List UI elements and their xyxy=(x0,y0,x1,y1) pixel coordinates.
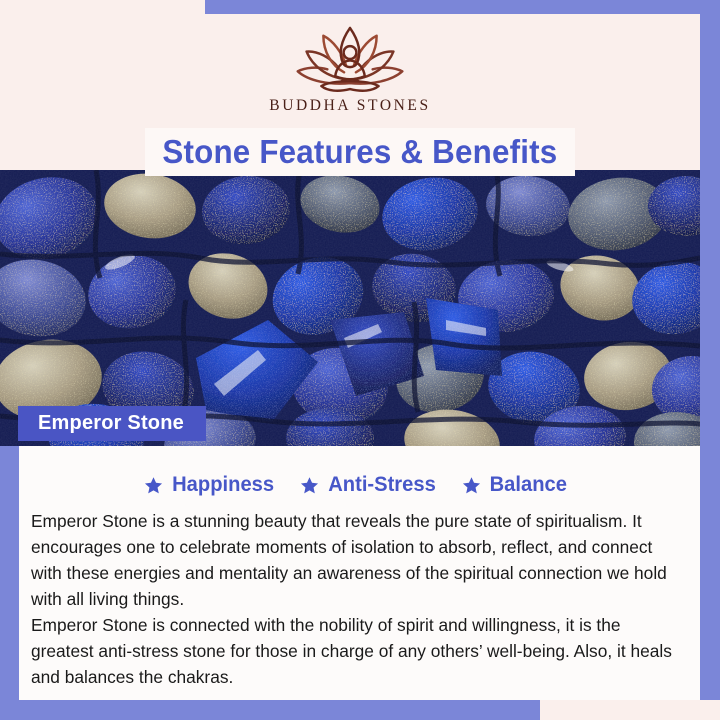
frame-bottom-cream-gap xyxy=(540,700,720,720)
lapis-lazuli-tumbled-stones-photo xyxy=(0,170,700,446)
star-icon xyxy=(300,476,319,495)
benefit-item-anti-stress: Anti-Stress xyxy=(300,473,438,497)
stone-name-label: Emperor Stone xyxy=(38,412,184,435)
description-paragraph-1: Emperor Stone is a stunning beauty that … xyxy=(31,508,674,612)
stone-photo xyxy=(0,170,700,446)
frame-border-left xyxy=(0,438,19,720)
description-panel: Happiness Anti-Stress Balance Emperor S xyxy=(19,446,700,700)
benefit-item-happiness: Happiness xyxy=(144,473,276,497)
brand-logo: BUDDHA STONES xyxy=(269,20,430,115)
stone-benefits-poster: BUDDHA STONES Stone Features & Benefits xyxy=(0,0,720,720)
status-badge: Emperor Stone xyxy=(18,406,206,441)
benefits-list: Happiness Anti-Stress Balance xyxy=(23,466,690,504)
frame-border-bottom xyxy=(0,700,560,720)
frame-border-right xyxy=(700,0,720,704)
benefit-label: Balance xyxy=(490,473,567,497)
title-banner: Stone Features & Benefits xyxy=(145,128,575,176)
description-text: Emperor Stone is a stunning beauty that … xyxy=(23,508,690,690)
benefit-label: Happiness xyxy=(172,473,274,497)
star-icon xyxy=(144,476,163,495)
benefit-label: Anti-Stress xyxy=(329,473,437,497)
frame-border-top xyxy=(205,0,720,14)
benefit-item-balance: Balance xyxy=(462,473,569,497)
brand-name: BUDDHA STONES xyxy=(269,97,430,115)
description-paragraph-2: Emperor Stone is connected with the nobi… xyxy=(31,612,674,690)
page-title: Stone Features & Benefits xyxy=(163,133,558,171)
star-icon xyxy=(462,476,481,495)
lotus-meditation-icon xyxy=(275,20,425,94)
